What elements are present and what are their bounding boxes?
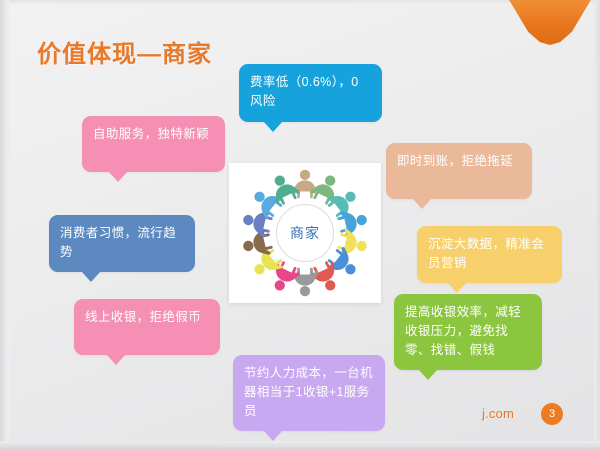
bubble-tail (106, 354, 126, 365)
bubble-tail (418, 369, 438, 380)
bubble-online-cashier[interactable]: 线上收银，拒绝假币 (74, 299, 220, 355)
bubble-rate[interactable]: 费率低（0.6%），0风险 (239, 64, 382, 122)
bubble-efficiency-text: 提高收银效率，减轻收银压力，避免找零、找错、假钱 (405, 305, 521, 357)
bubble-big-data-text: 沉淀大数据，精准会员营销 (428, 237, 544, 270)
bubble-labor-saving-text: 节约人力成本，一台机器相当于1收银+1服务员 (244, 366, 373, 418)
bubble-labor-saving[interactable]: 节约人力成本，一台机器相当于1收银+1服务员 (233, 355, 385, 431)
bubble-instant-settlement[interactable]: 即时到账，拒绝拖延 (386, 143, 532, 199)
bubble-self-service[interactable]: 自助服务，独特新颖 (82, 116, 225, 172)
bubble-consumer-habit[interactable]: 消费者习惯，流行趋势 (49, 215, 195, 272)
bubble-tail (81, 271, 101, 282)
orange-funnel-icon (508, 0, 592, 45)
bubble-tail (447, 282, 467, 293)
bubble-efficiency[interactable]: 提高收银效率，减轻收银压力，避免找零、找错、假钱 (394, 294, 542, 370)
bubble-rate-text: 费率低（0.6%），0风险 (250, 75, 359, 108)
bubble-tail (263, 121, 283, 132)
bubble-online-cashier-text: 线上收银，拒绝假币 (85, 310, 201, 324)
bubble-consumer-habit-text: 消费者习惯，流行趋势 (60, 226, 176, 259)
slide-edge-bottom (0, 441, 600, 450)
bubble-tail (108, 171, 128, 182)
center-graphic-card: 商家 (229, 163, 381, 303)
slide-edge-right (594, 0, 600, 450)
bubble-tail (263, 430, 283, 441)
bubble-big-data[interactable]: 沉淀大数据，精准会员营销 (417, 226, 562, 283)
bubble-self-service-text: 自助服务，独特新颖 (93, 127, 209, 141)
brand-label: j.com (482, 406, 514, 421)
page-number-badge: 3 (541, 403, 563, 425)
page-title: 价值体现—商家 (37, 34, 212, 69)
slide-canvas: 价值体现—商家 商家 费率低（0.6%），0风险 自助服务，独特新颖 消费者习惯… (0, 0, 600, 450)
slide-edge-left (0, 0, 10, 450)
bubble-instant-settlement-text: 即时到账，拒绝拖延 (397, 154, 513, 168)
center-label: 商家 (276, 204, 334, 262)
bubble-tail (412, 198, 432, 209)
